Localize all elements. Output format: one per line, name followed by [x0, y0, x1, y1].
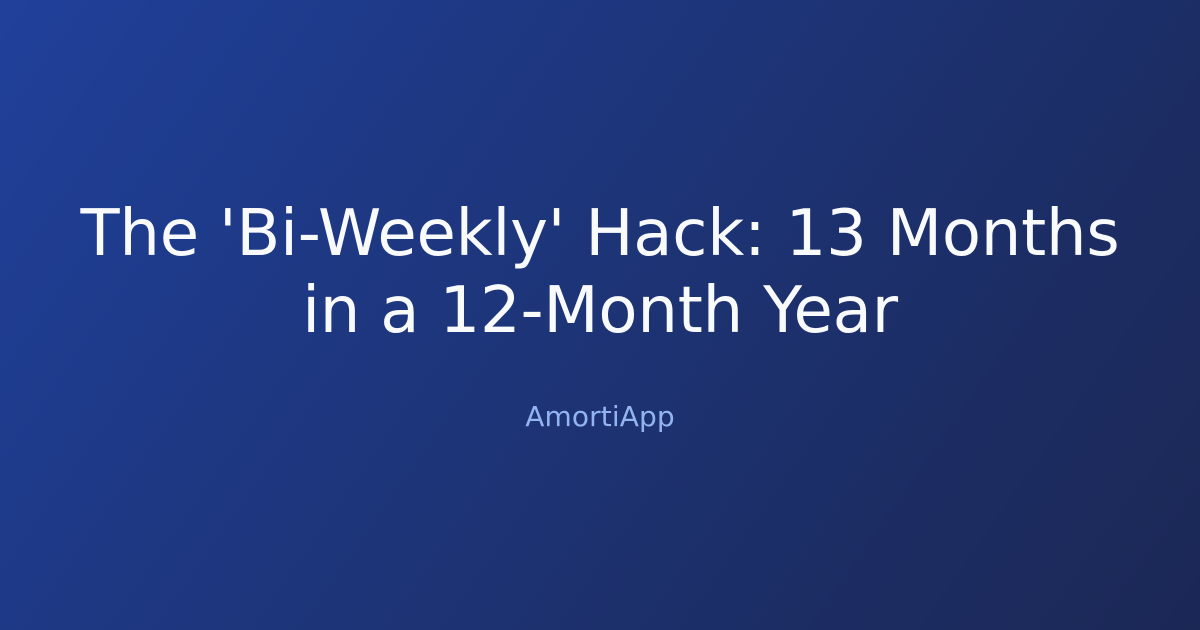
card-brand-name: AmortiApp: [525, 399, 674, 434]
share-card: The 'Bi-Weekly' Hack: 13 Months in a 12-…: [0, 0, 1200, 630]
card-title: The 'Bi-Weekly' Hack: 13 Months in a 12-…: [80, 196, 1120, 348]
card-content: The 'Bi-Weekly' Hack: 13 Months in a 12-…: [80, 196, 1120, 433]
